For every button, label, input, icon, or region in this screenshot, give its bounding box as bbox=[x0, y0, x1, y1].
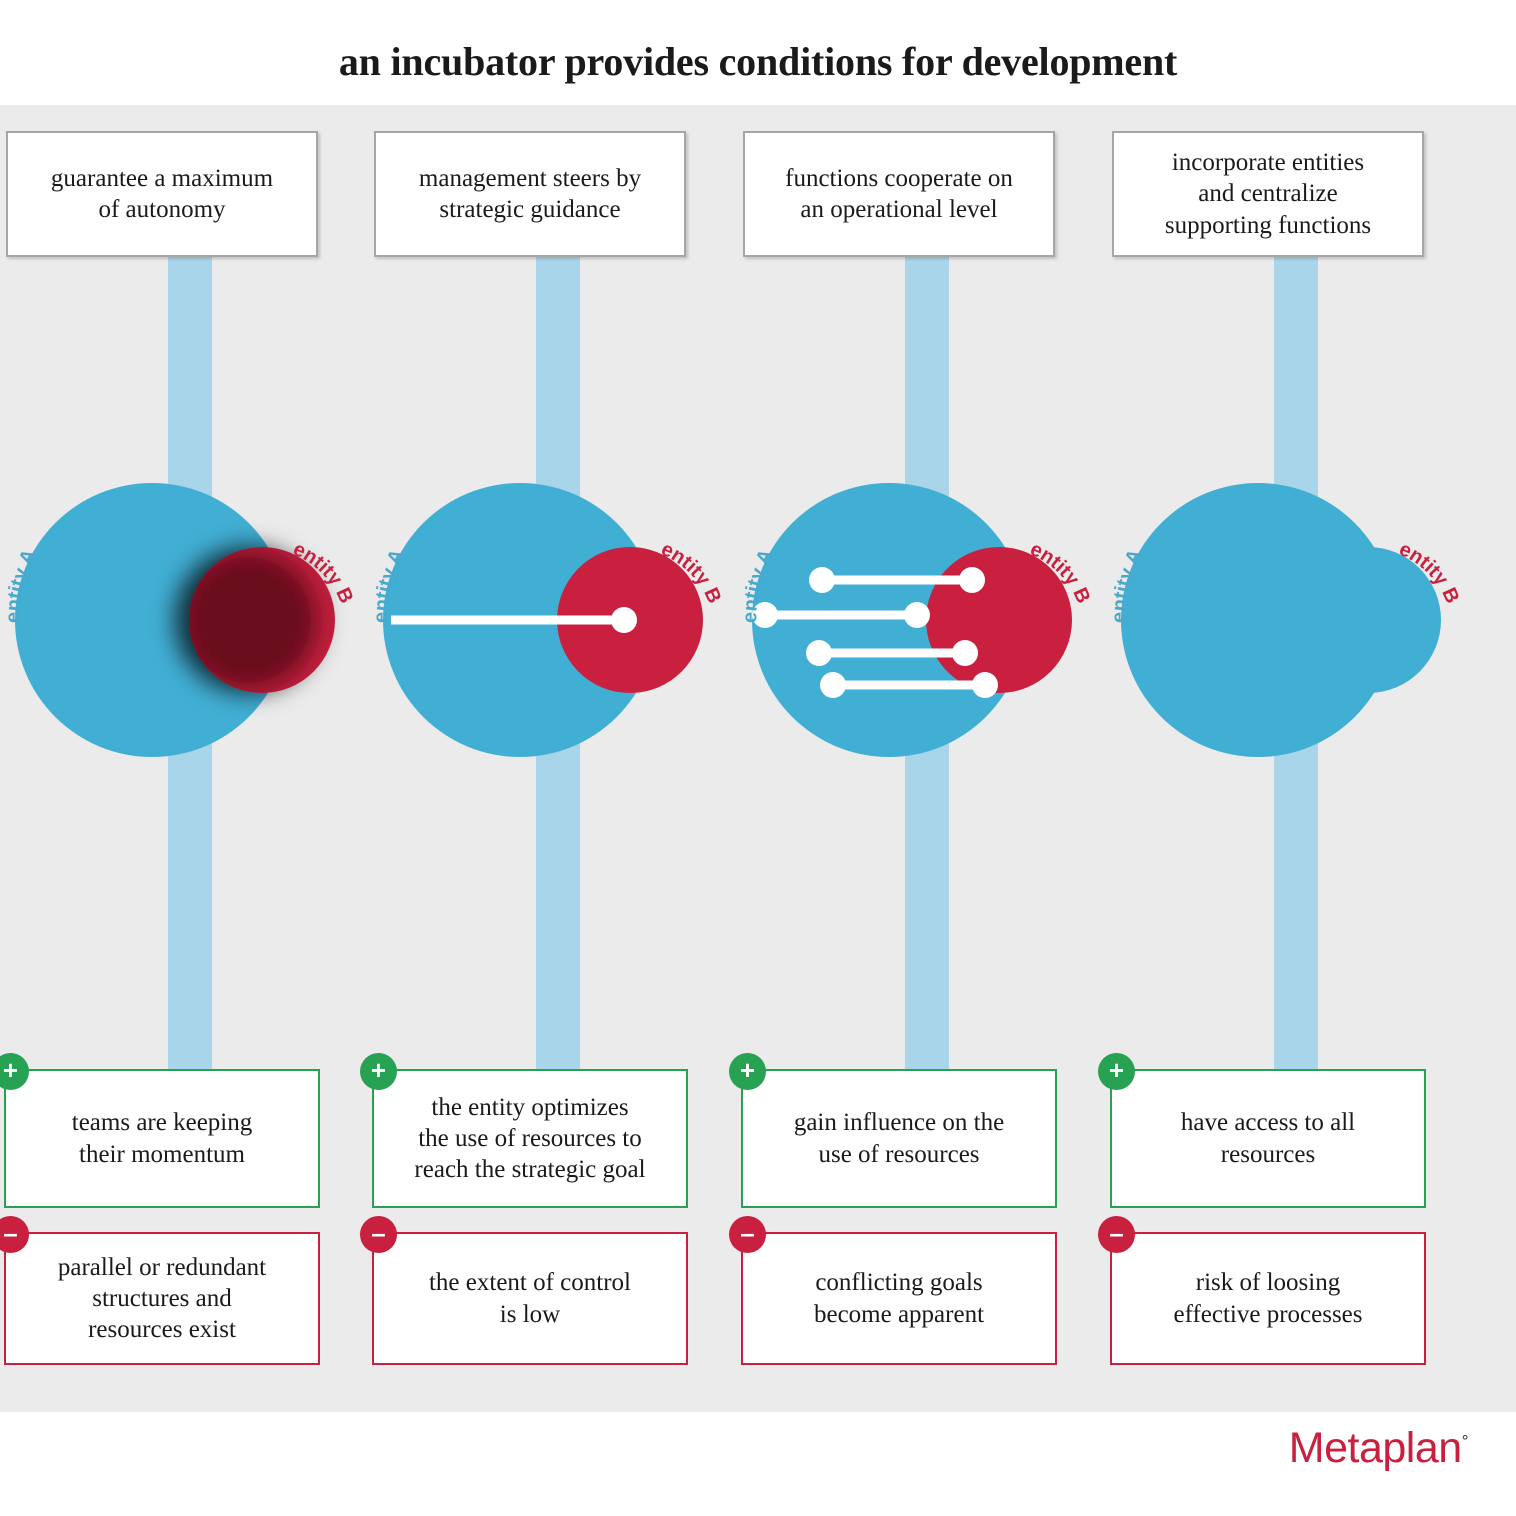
negative-outcome-text: risk of loosing effective processes bbox=[1173, 1267, 1362, 1330]
minus-icon: – bbox=[360, 1216, 397, 1253]
column-autonomy: guarantee a maximum of autonomy bbox=[0, 105, 379, 1412]
minus-icon: – bbox=[729, 1216, 766, 1253]
negative-outcome-text: conflicting goals become apparent bbox=[814, 1267, 984, 1330]
content-panel: guarantee a maximum of autonomy bbox=[0, 105, 1516, 1412]
condition-text: guarantee a maximum of autonomy bbox=[51, 163, 273, 226]
merged-entity-shape bbox=[1121, 483, 1441, 757]
positive-outcome-text: teams are keeping their momentum bbox=[72, 1107, 252, 1170]
negative-outcome-text: the extent of control is low bbox=[429, 1267, 631, 1330]
plus-icon: + bbox=[360, 1053, 397, 1090]
venn-diagram-multi-connector: entity A entity B bbox=[737, 475, 1116, 765]
plus-icon: + bbox=[1098, 1053, 1135, 1090]
negative-outcome-box[interactable]: – the extent of control is low bbox=[372, 1232, 688, 1365]
minus-icon: – bbox=[0, 1216, 29, 1253]
positive-outcome-text: the entity optimizes the use of resource… bbox=[414, 1092, 645, 1186]
negative-outcome-box[interactable]: – conflicting goals become apparent bbox=[741, 1232, 1057, 1365]
venn-diagram-merged: entity A entity B bbox=[1106, 475, 1485, 765]
plus-icon: + bbox=[729, 1053, 766, 1090]
condition-box[interactable]: incorporate entities and centralize supp… bbox=[1112, 131, 1424, 257]
logo-wordmark: Metaplan bbox=[1289, 1424, 1462, 1472]
condition-text: management steers by strategic guidance bbox=[419, 163, 641, 226]
positive-outcome-box[interactable]: + gain influence on the use of resources bbox=[741, 1069, 1057, 1208]
condition-box[interactable]: functions cooperate on an operational le… bbox=[743, 131, 1055, 257]
registered-mark-icon: ° bbox=[1462, 1432, 1468, 1451]
column-incorporate-centralize: incorporate entities and centralize supp… bbox=[1106, 105, 1485, 1412]
negative-outcome-text: parallel or redundant structures and res… bbox=[58, 1252, 266, 1346]
minus-icon: – bbox=[1098, 1216, 1135, 1253]
plus-icon: + bbox=[0, 1053, 29, 1090]
positive-outcome-text: gain influence on the use of resources bbox=[794, 1107, 1004, 1170]
positive-outcome-box[interactable]: + have access to all resources bbox=[1110, 1069, 1426, 1208]
positive-outcome-box[interactable]: + the entity optimizes the use of resour… bbox=[372, 1069, 688, 1208]
diagram-page: an incubator provides conditions for dev… bbox=[0, 0, 1516, 1516]
negative-outcome-box[interactable]: – risk of loosing effective processes bbox=[1110, 1232, 1426, 1365]
negative-outcome-box[interactable]: – parallel or redundant structures and r… bbox=[4, 1232, 320, 1365]
venn-diagram-separate: entity A entity B bbox=[0, 475, 379, 765]
condition-box[interactable]: guarantee a maximum of autonomy bbox=[6, 131, 318, 257]
condition-text: functions cooperate on an operational le… bbox=[785, 163, 1013, 226]
column-strategic-guidance: management steers by strategic guidance … bbox=[368, 105, 747, 1412]
page-title: an incubator provides conditions for dev… bbox=[0, 38, 1516, 85]
condition-box[interactable]: management steers by strategic guidance bbox=[374, 131, 686, 257]
venn-diagram-single-connector: entity A entity B bbox=[368, 475, 747, 765]
metaplan-logo: Metaplan° bbox=[1289, 1424, 1468, 1473]
positive-outcome-box[interactable]: + teams are keeping their momentum bbox=[4, 1069, 320, 1208]
condition-text: incorporate entities and centralize supp… bbox=[1165, 147, 1371, 241]
column-operational-cooperation: functions cooperate on an operational le… bbox=[737, 105, 1116, 1412]
positive-outcome-text: have access to all resources bbox=[1181, 1107, 1355, 1170]
